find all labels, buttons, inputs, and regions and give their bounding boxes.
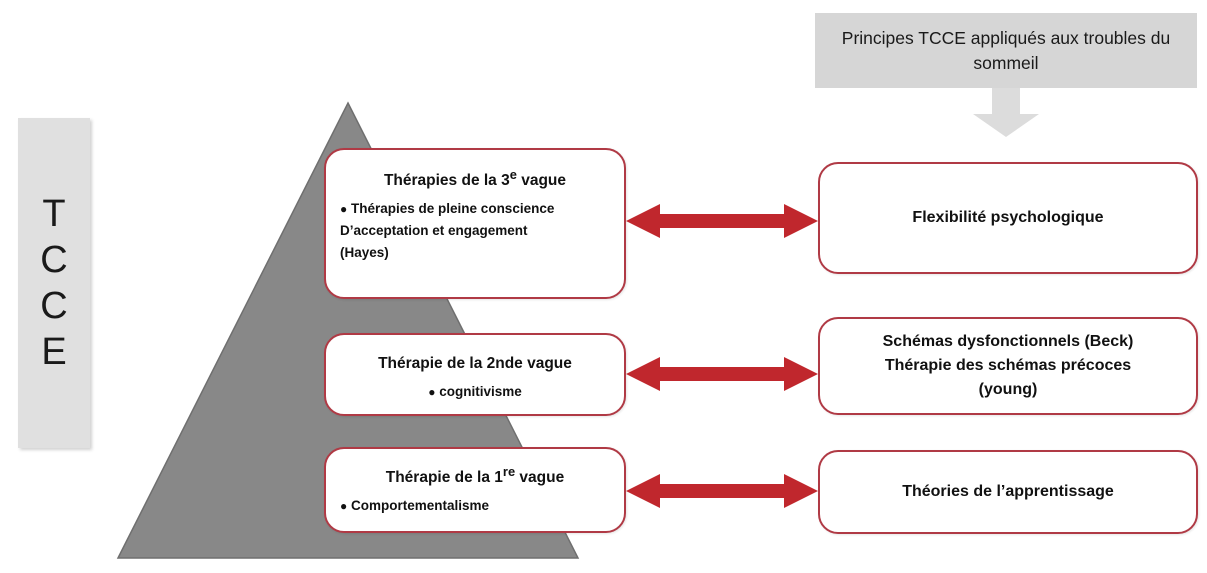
card-schemas-text: Schémas dysfonctionnels (Beck) Thérapie …	[883, 330, 1134, 402]
tcce-letter-2: C	[40, 237, 67, 283]
card-schemas-line-1: Schémas dysfonctionnels (Beck)	[883, 330, 1134, 354]
card-wave1[interactable]: Thérapie de la 1re vague ● Comportementa…	[324, 447, 626, 533]
bullet-line: ● Comportementalisme	[340, 495, 610, 517]
tcce-letter-1: T	[42, 191, 65, 237]
header-banner: Principes TCCE appliqués aux troubles du…	[815, 13, 1197, 88]
card-theories-text: Théories de l’apprentissage	[902, 480, 1114, 504]
card-wave3-line-2: D’acceptation et engagement	[340, 220, 610, 242]
card-wave3-title: Thérapies de la 3e vague	[340, 164, 610, 191]
bullet-icon: ●	[428, 385, 435, 399]
card-wave3[interactable]: Thérapies de la 3e vague ● Thérapies de …	[324, 148, 626, 299]
tcce-letter-4: E	[41, 329, 66, 375]
card-wave1-lines: ● Comportementalisme	[340, 495, 610, 517]
card-wave2[interactable]: Thérapie de la 2nde vague ● cognitivisme	[324, 333, 626, 416]
card-flexibilite-text: Flexibilité psychologique	[912, 206, 1103, 230]
bullet-line-text: Comportementalisme	[351, 498, 489, 513]
card-wave2-lines: ● cognitivisme	[340, 381, 610, 403]
bullet-icon: ●	[340, 499, 347, 513]
card-schemas[interactable]: Schémas dysfonctionnels (Beck) Thérapie …	[818, 317, 1198, 415]
card-schemas-line-2: Thérapie des schémas précoces	[883, 354, 1134, 378]
bullet-line-text: Thérapies de pleine conscience	[351, 201, 554, 216]
card-schemas-line-3: (young)	[883, 378, 1134, 402]
double-arrow-icon-wave2	[626, 353, 818, 395]
header-banner-text: Principes TCCE appliqués aux troubles du…	[829, 26, 1183, 76]
double-arrow-icon-wave1	[626, 470, 818, 512]
diagram-canvas: T C C E Principes TCCE appliqués aux tro…	[0, 0, 1207, 573]
card-wave1-title: Thérapie de la 1re vague	[340, 461, 610, 488]
card-flexibilite[interactable]: Flexibilité psychologique	[818, 162, 1198, 274]
bullet-icon: ●	[340, 202, 347, 216]
bullet-line: ● Thérapies de pleine conscience	[340, 198, 610, 220]
bullet-line-text: cognitivisme	[439, 384, 522, 399]
arrow-down-icon	[965, 88, 1047, 138]
card-wave3-line-3: (Hayes)	[340, 242, 610, 264]
card-wave3-lines: ● Thérapies de pleine conscience D’accep…	[340, 198, 610, 264]
card-theories[interactable]: Théories de l’apprentissage	[818, 450, 1198, 534]
tcce-letter-3: C	[40, 283, 67, 329]
card-wave2-title: Thérapie de la 2nde vague	[340, 347, 610, 374]
double-arrow-icon-wave3	[626, 200, 818, 242]
bullet-line: ● cognitivisme	[340, 381, 610, 403]
tcce-side-label: T C C E	[18, 118, 90, 448]
